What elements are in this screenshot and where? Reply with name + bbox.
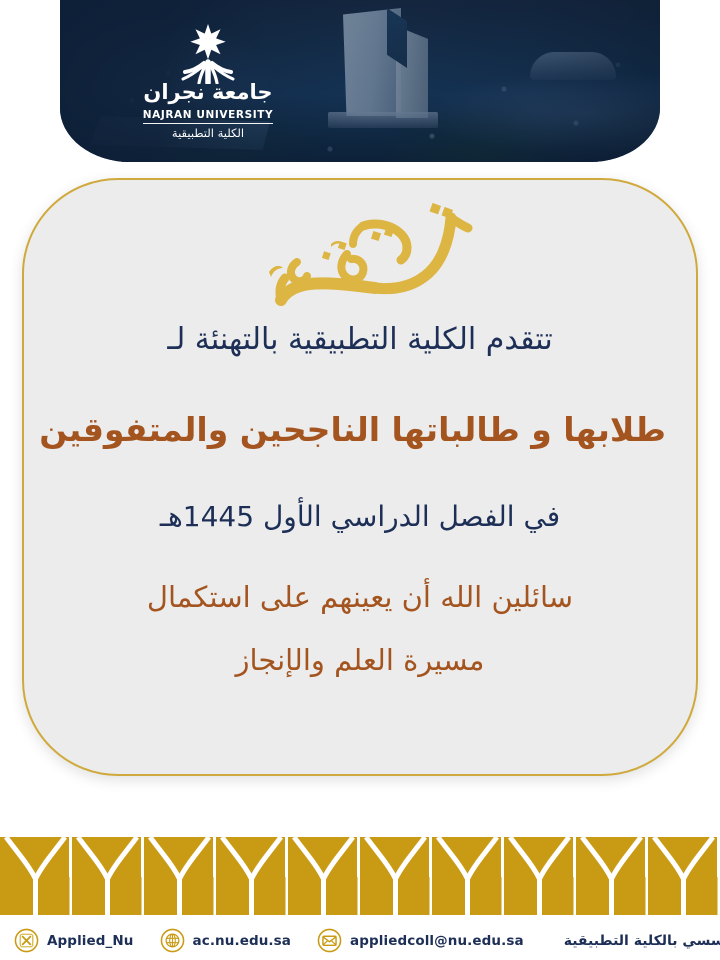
contact-website[interactable]: ac.nu.edu.sa	[160, 928, 292, 953]
footer-department-label: الاتصال المؤسسي بالكلية التطبيقية	[564, 933, 720, 949]
university-logo: جامعة نجران NAJRAN UNIVERSITY الكلية الت…	[142, 22, 274, 140]
contact-website-label: ac.nu.edu.sa	[193, 933, 292, 949]
email-envelope-icon	[317, 928, 342, 953]
logo-college-name: الكلية التطبيقية	[142, 128, 274, 140]
najran-university-palm-emblem-icon	[142, 22, 274, 84]
arabic-calligraphy-tahniaa	[235, 202, 485, 314]
message-line-1: تتقدم الكلية التطبيقية بالتهنئة لـ	[54, 320, 666, 360]
logo-english-name: NAJRAN UNIVERSITY	[143, 110, 274, 124]
message-line-4: سائلين الله أن يعينهم على استكمال	[54, 578, 666, 617]
message-line-2: طلابها و طالباتها الناجحين والمتفوقين	[54, 408, 666, 452]
contact-email[interactable]: appliedcoll@nu.edu.sa	[317, 928, 524, 953]
header-banner: جامعة نجران NAJRAN UNIVERSITY الكلية الت…	[60, 0, 660, 162]
x-twitter-icon	[14, 928, 39, 953]
logo-arabic-name: جامعة نجران	[142, 82, 274, 103]
message-line-5: مسيرة العلم والإنجاز	[54, 641, 666, 680]
contact-twitter[interactable]: Applied_Nu	[14, 928, 134, 953]
globe-website-icon	[160, 928, 185, 953]
gold-tree-branch-band	[0, 837, 720, 915]
message-line-3: في الفصل الدراسي الأول 1445هـ	[54, 498, 666, 536]
congratulation-message: تتقدم الكلية التطبيقية بالتهنئة لـ طلابه…	[54, 320, 666, 680]
congratulations-card: تتقدم الكلية التطبيقية بالتهنئة لـ طلابه…	[22, 178, 698, 776]
footer-contact-bar: Applied_Nu ac.nu.edu.sa appliedcoll@nu.e…	[0, 921, 720, 960]
calligraphy-container	[24, 202, 696, 318]
contact-email-label: appliedcoll@nu.edu.sa	[350, 933, 524, 949]
contact-twitter-label: Applied_Nu	[47, 933, 134, 949]
